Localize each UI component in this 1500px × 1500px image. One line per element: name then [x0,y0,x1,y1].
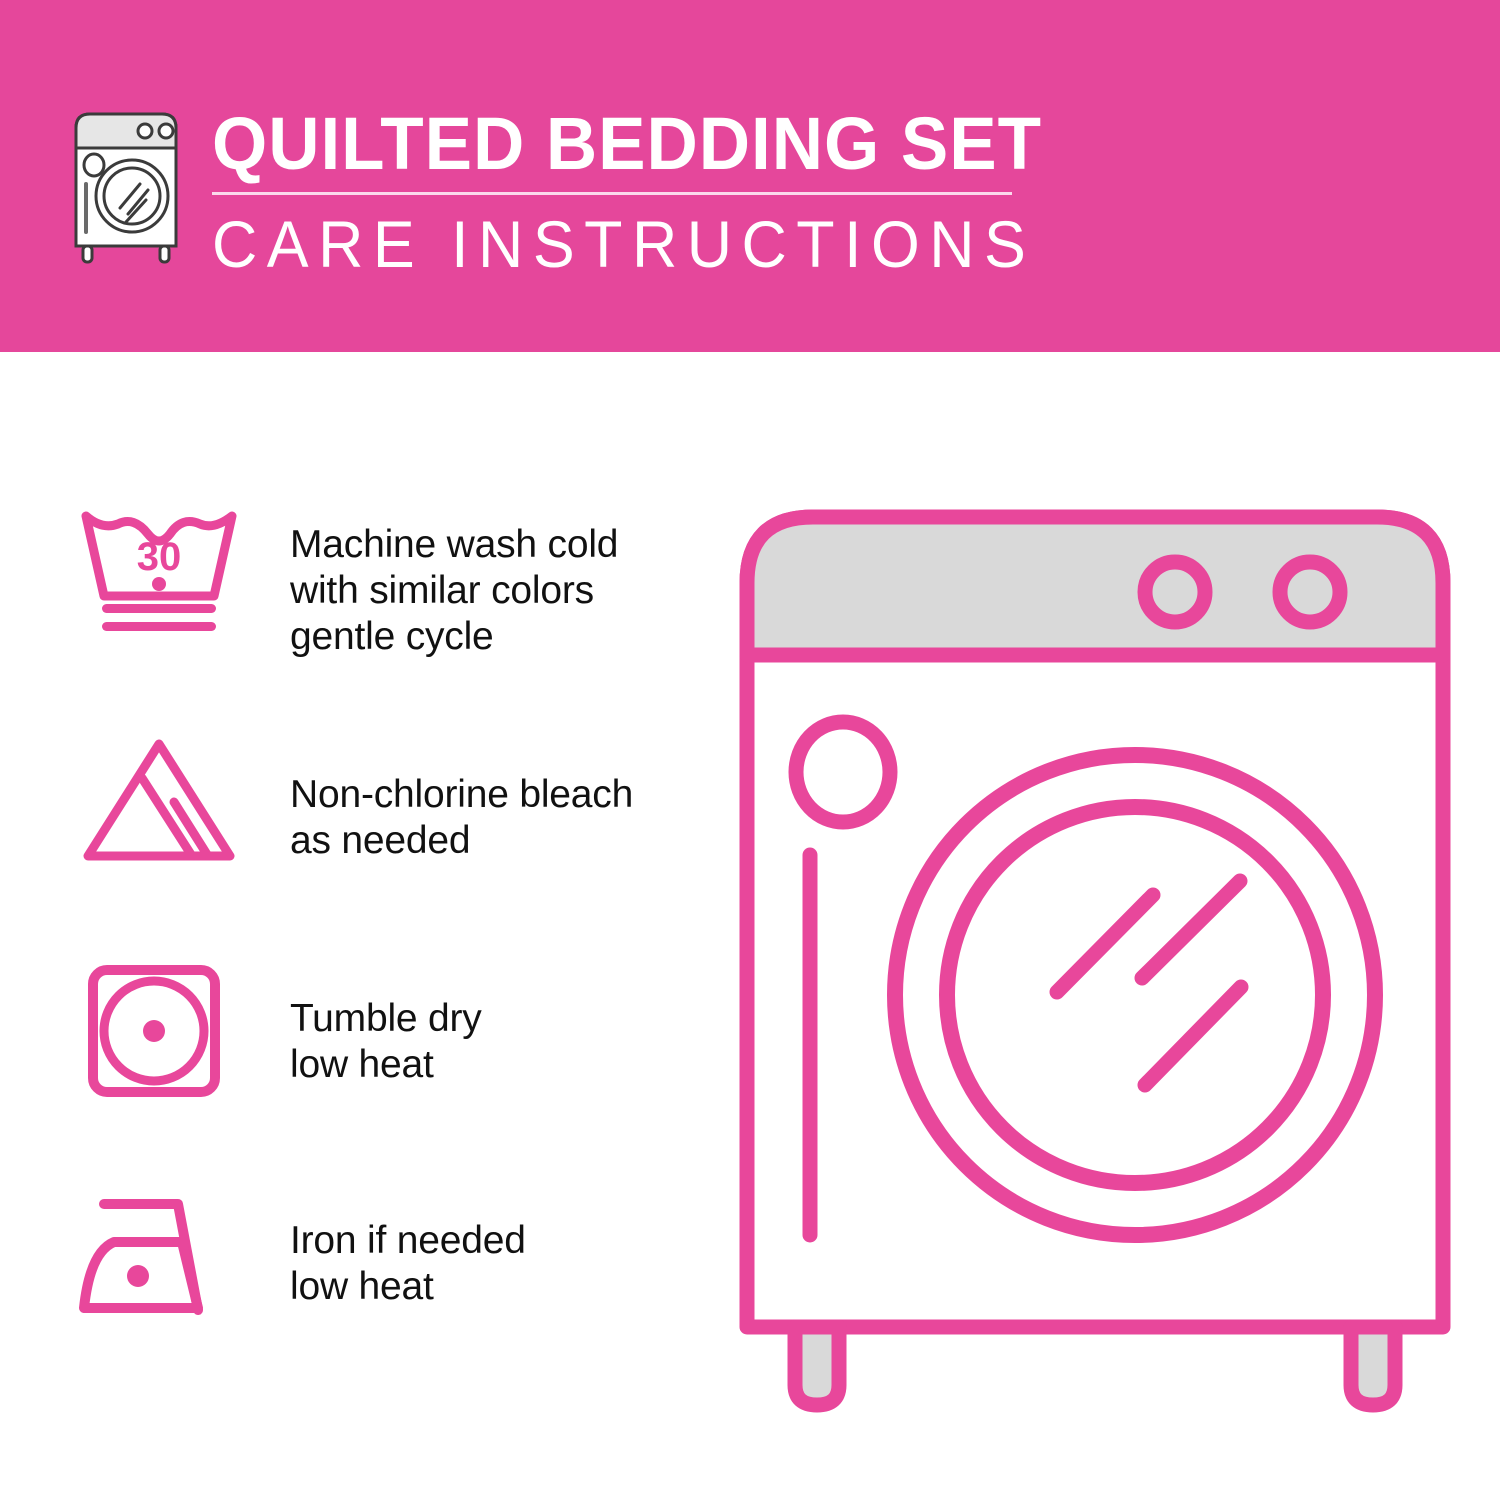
door-inner-ring [947,807,1323,1183]
care-label-line: Non-chlorine bleach [290,772,720,818]
front-load-washing-machine-illustration [735,495,1455,1425]
indicator-circle [796,722,890,822]
care-row-wash: 30 Machine wash cold with similar colors… [60,500,720,730]
bleach-triangle-non-chlorine-icon [60,730,290,870]
wash-temperature-value: 30 [137,535,182,579]
care-row-iron: Iron if needed low heat [60,1190,720,1370]
care-label-iron: Iron if needed low heat [290,1190,720,1310]
header-text-block: QUILTED BEDDING SET CARE INSTRUCTIONS [212,104,1022,279]
care-label-line: low heat [290,1042,720,1088]
care-label-line: Tumble dry [290,996,720,1042]
care-label-tumble-dry: Tumble dry low heat [290,960,720,1088]
care-label-bleach: Non-chlorine bleach as needed [290,730,720,864]
header-banner: QUILTED BEDDING SET CARE INSTRUCTIONS [0,0,1500,352]
knob-right [1280,562,1340,622]
care-label-line: gentle cycle [290,614,720,660]
care-label-wash: Machine wash cold with similar colors ge… [290,500,720,660]
care-label-line: low heat [290,1264,720,1310]
care-instructions-page: QUILTED BEDDING SET CARE INSTRUCTIONS 30 [0,0,1500,1500]
care-label-line: Machine wash cold [290,522,720,568]
title-divider [212,192,1012,195]
care-row-bleach: Non-chlorine bleach as needed [60,730,720,960]
leg-left [795,1327,839,1405]
care-instruction-list: 30 Machine wash cold with similar colors… [60,500,720,1370]
care-label-line: with similar colors [290,568,720,614]
wash-tub-30-gentle-icon: 30 [60,500,290,640]
page-title: QUILTED BEDDING SET [212,104,990,184]
care-label-line: Iron if needed [290,1218,720,1264]
care-label-line: as needed [290,818,720,864]
leg-right [1351,1327,1395,1405]
knob-left [1145,562,1205,622]
care-row-tumble-dry: Tumble dry low heat [60,960,720,1190]
page-subtitle: CARE INSTRUCTIONS [212,209,982,279]
iron-low-heat-icon [60,1190,290,1330]
washing-machine-icon [62,104,190,264]
tumble-dry-low-heat-icon [60,960,290,1100]
